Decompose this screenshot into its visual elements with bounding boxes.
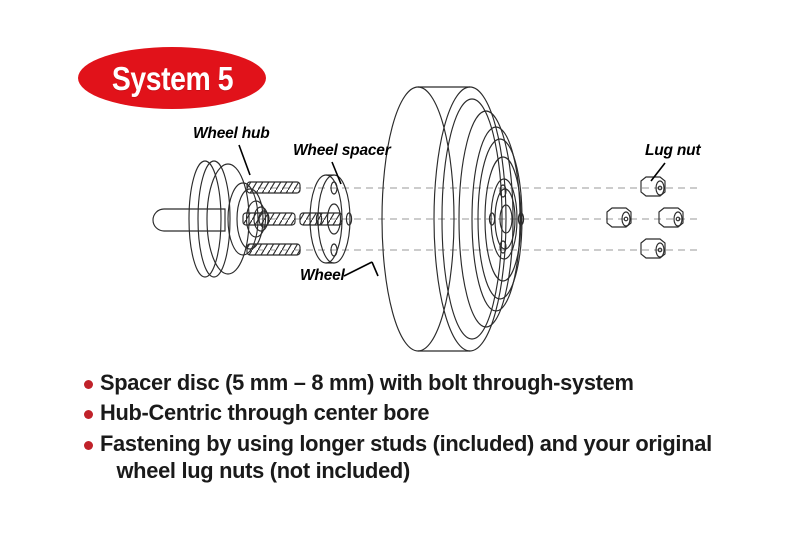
bullet-line: Fastening by using longer studs (include…: [100, 431, 712, 456]
label-wheel-spacer: Wheel spacer: [293, 142, 391, 160]
bullet-text: Fastening by using longer studs (include…: [100, 430, 712, 485]
bullet-line-continuation: wheel lug nuts (not included): [100, 457, 712, 484]
bullet-dot-icon: [84, 380, 93, 389]
feature-bullet-list: Spacer disc (5 mm – 8 mm) with bolt thro…: [84, 369, 764, 488]
bullet-text: Hub-Centric through center bore: [100, 399, 429, 426]
bullet-line: Hub-Centric through center bore: [100, 400, 429, 425]
list-item: Spacer disc (5 mm – 8 mm) with bolt thro…: [84, 369, 764, 396]
label-wheel: Wheel: [300, 267, 345, 285]
lug-nut: [659, 208, 683, 227]
wheel-assembly-diagram: [0, 0, 800, 360]
leader-lines: [239, 145, 665, 276]
bullet-line: Spacer disc (5 mm – 8 mm) with bolt thro…: [100, 370, 634, 395]
label-lug-nut: Lug nut: [645, 142, 700, 160]
lug-nut: [641, 177, 665, 196]
list-item: Hub-Centric through center bore: [84, 399, 764, 426]
bullet-text: Spacer disc (5 mm – 8 mm) with bolt thro…: [100, 369, 634, 396]
label-wheel-hub: Wheel hub: [193, 125, 270, 143]
lug-nut: [607, 208, 631, 227]
lug-nut: [641, 239, 665, 258]
lug-nuts: [607, 177, 683, 258]
bullet-dot-icon: [84, 410, 93, 419]
diagram-page: System 5: [0, 0, 800, 533]
list-item: Fastening by using longer studs (include…: [84, 430, 764, 485]
bullet-dot-icon: [84, 441, 93, 450]
